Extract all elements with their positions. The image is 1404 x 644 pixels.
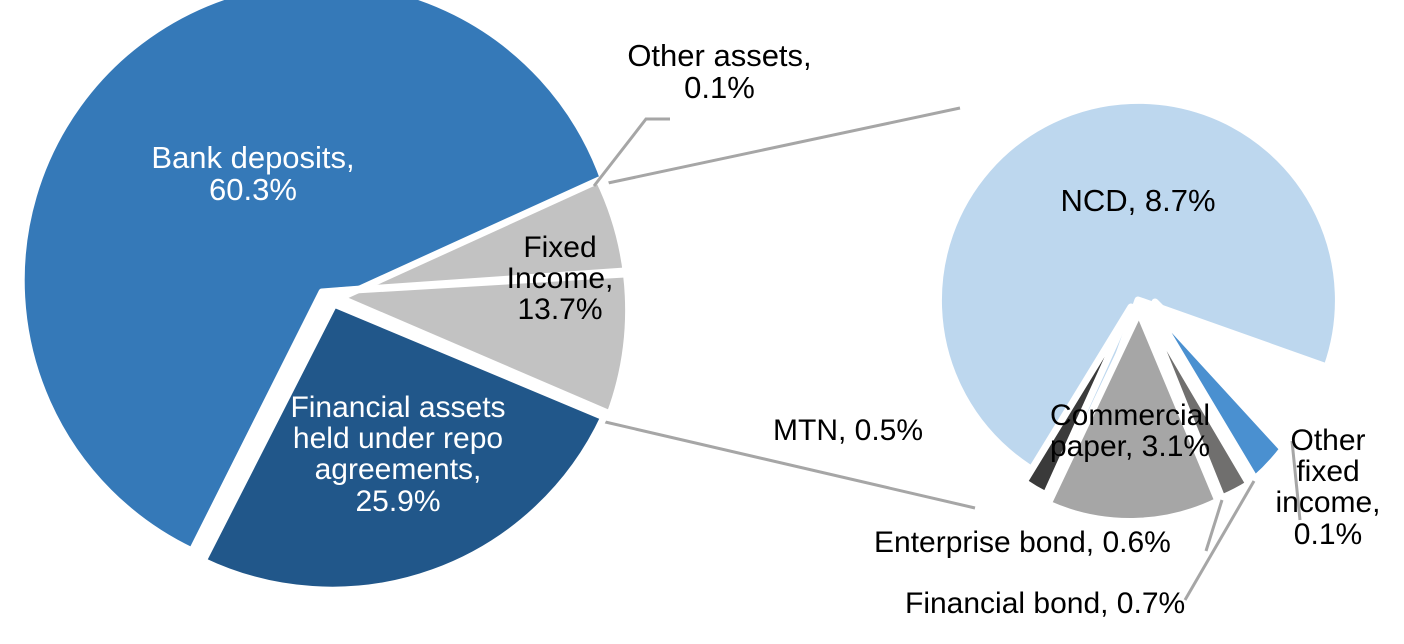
chart-canvas: Bank deposits, 60.3% Financial assets he… [0, 0, 1404, 644]
leader-lines [594, 108, 975, 508]
label-fixed-income: Fixed Income, 13.7% [470, 232, 650, 326]
label-repo-agreements: Financial assets held under repo agreeme… [254, 392, 542, 517]
label-commercial-paper: Commercial paper, 3.1% [1020, 400, 1240, 462]
label-ncd: NCD, 8.7% [1028, 185, 1248, 217]
label-other-fixed-income: Other fixed income, 0.1% [1258, 425, 1398, 550]
label-mtn: MTN, 0.5% [773, 415, 973, 446]
label-enterprise-bond: Enterprise bond, 0.6% [874, 527, 1224, 558]
label-other-assets: Other assets, 0.1% [602, 40, 837, 104]
label-bank-deposits: Bank deposits, 60.3% [108, 142, 398, 206]
label-financial-bond: Financial bond, 0.7% [905, 588, 1245, 619]
